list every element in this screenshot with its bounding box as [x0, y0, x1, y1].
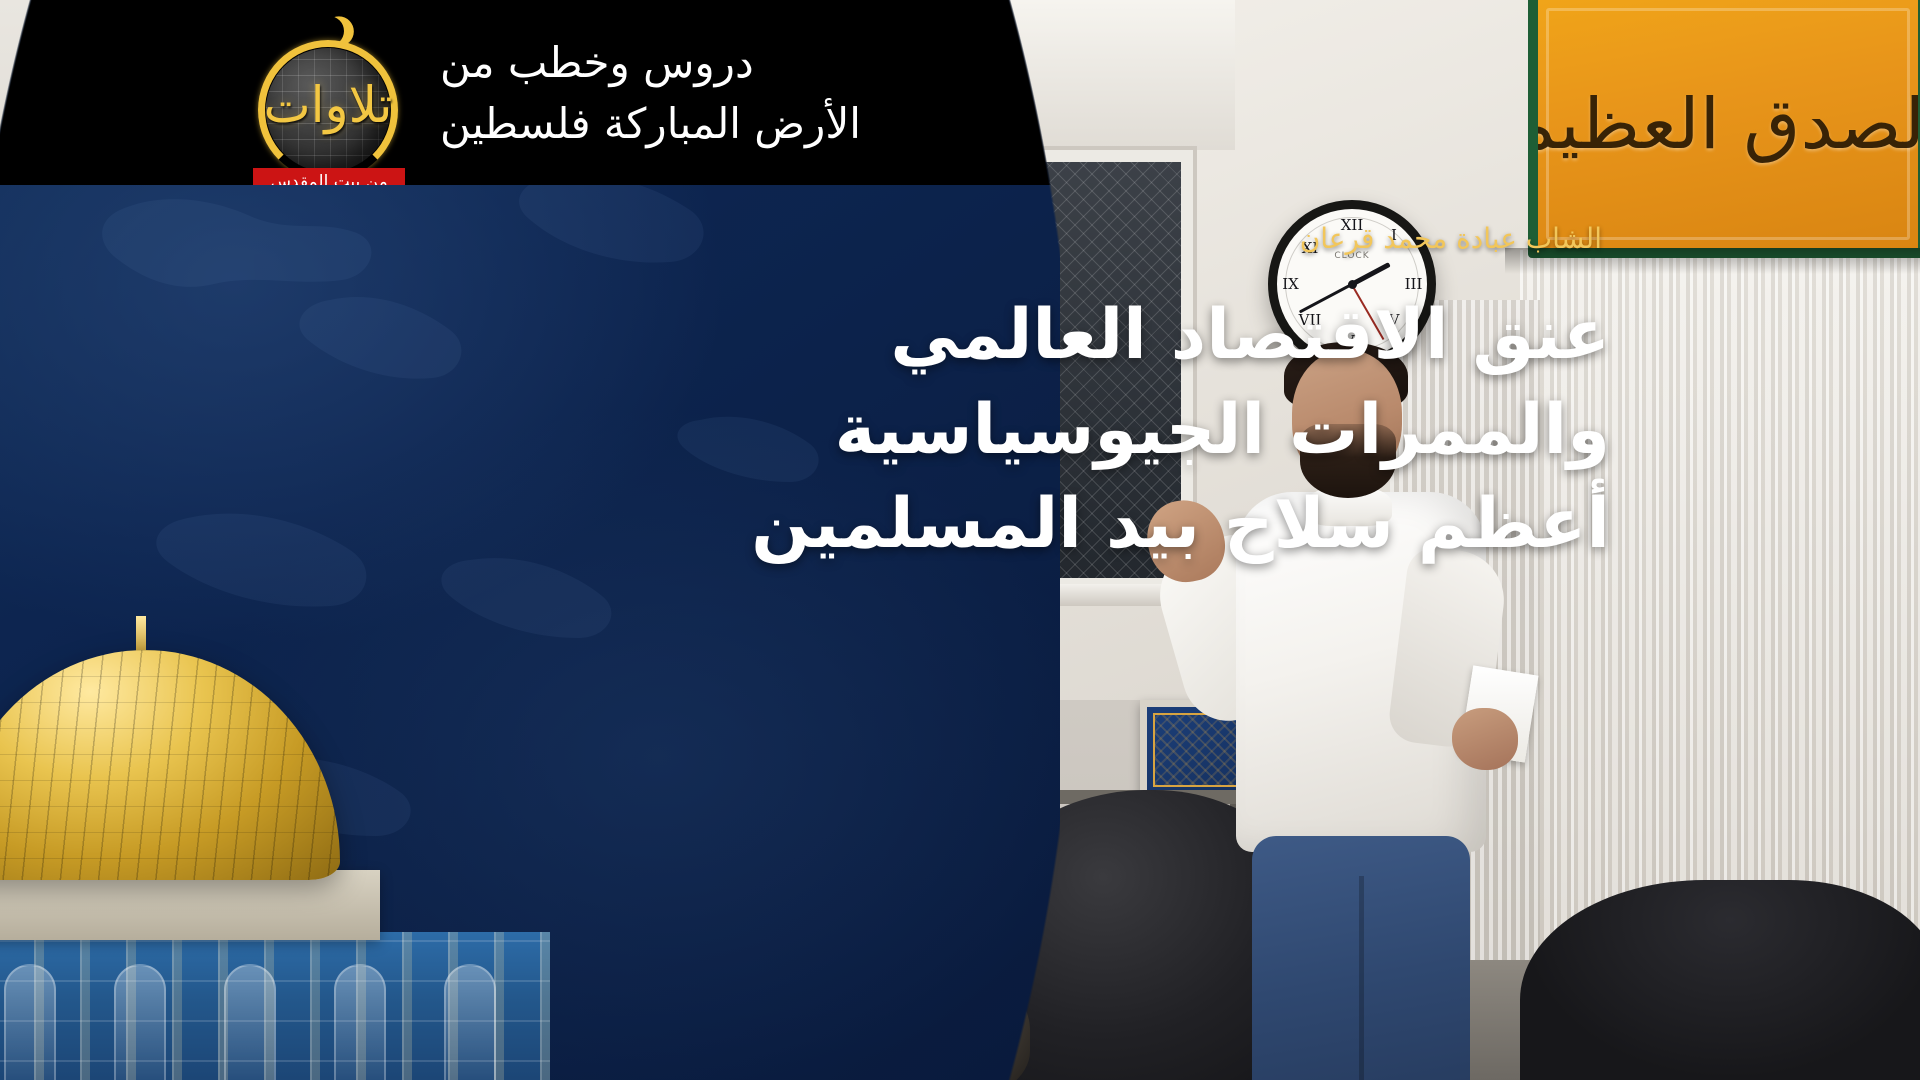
video-thumbnail: الصدق العظيم CLOCK XII I III V VI VII IX…	[0, 0, 1920, 1080]
channel-header-bar: تلاوات من بيت المقدس دروس وخطب من الأرض …	[0, 0, 1060, 185]
title-line-1: عنق الاقتصاد العالمي	[750, 288, 1610, 383]
dome-arcade	[0, 950, 554, 1080]
tagline-line-2: الأرض المباركة فلسطين	[440, 96, 861, 153]
dome-drum	[0, 870, 380, 940]
logo-wordmark: تلاوات	[258, 80, 398, 130]
title-line-2: والممرات الجيوسياسية	[750, 383, 1610, 478]
video-title: عنق الاقتصاد العالمي والممرات الجيوسياسي…	[750, 288, 1610, 572]
speaker-left-hand	[1452, 708, 1518, 770]
golden-dome	[0, 650, 340, 880]
channel-logo: تلاوات من بيت المقدس	[248, 18, 408, 186]
speaker-jeans	[1252, 836, 1470, 1080]
title-line-3: أعظم سلاح بيد المسلمين	[750, 477, 1610, 572]
speaker-name: الشاب عبادة محمد قرعان	[1300, 222, 1602, 256]
dome-of-the-rock	[0, 620, 660, 1080]
tagline-line-1: دروس وخطب من	[440, 35, 754, 92]
channel-tagline: دروس وخطب من الأرض المباركة فلسطين	[440, 24, 1000, 164]
plaque-calligraphy-text: الصدق العظيم	[1529, 0, 1920, 248]
dark-garment-pile-right	[1520, 880, 1920, 1080]
calligraphy-plaque: الصدق العظيم	[1528, 0, 1920, 258]
